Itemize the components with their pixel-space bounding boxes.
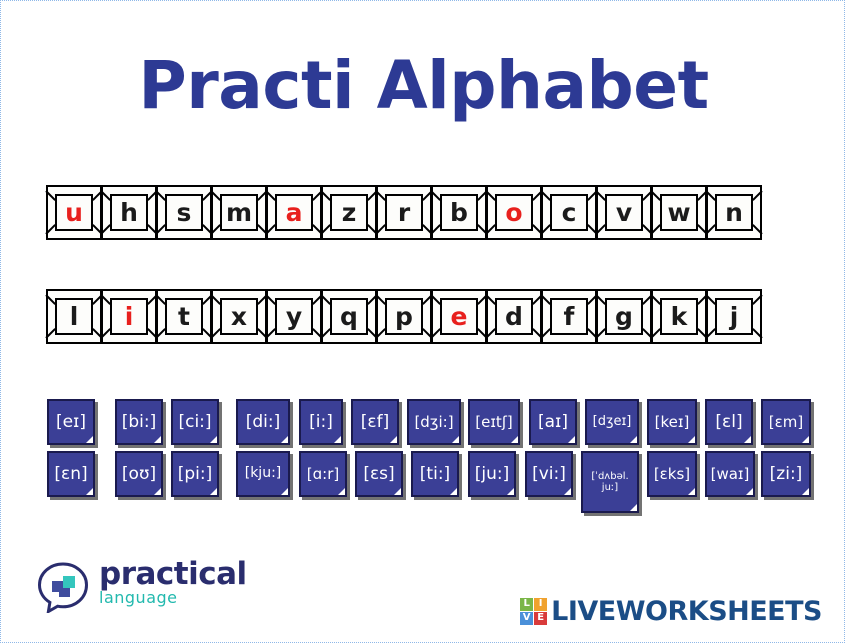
letter-cell[interactable]: r xyxy=(376,185,432,240)
phonetic-tile[interactable]: [aɪ] xyxy=(529,399,577,445)
bevel-corner-icon xyxy=(265,224,276,235)
bevel-corner-icon xyxy=(485,328,496,339)
bevel-corner-icon xyxy=(100,224,111,235)
letter-glyph: i xyxy=(125,304,134,329)
folded-corner-icon xyxy=(566,434,577,445)
bevel-corner-icon xyxy=(705,328,716,339)
bevel-corner-icon xyxy=(650,190,661,201)
phonetic-tile-label: [ɛks] xyxy=(652,466,692,483)
bevel-corner-icon xyxy=(752,224,763,235)
phonetic-tile[interactable]: [dʒeɪ] xyxy=(585,399,639,445)
phonetic-tile-label: [pi:] xyxy=(176,465,215,484)
phonetic-tile-label: [dʒi:] xyxy=(412,414,455,431)
letter-cell[interactable]: i xyxy=(101,289,157,344)
bevel-corner-icon xyxy=(752,190,763,201)
bevel-corner-icon xyxy=(45,294,56,305)
bevel-corner-icon xyxy=(320,294,331,305)
letter-glyph: d xyxy=(505,304,523,329)
letter-cell[interactable]: w xyxy=(651,185,707,240)
bevel-corner-icon xyxy=(155,190,166,201)
bevel-corner-icon xyxy=(595,224,606,235)
bevel-corner-icon xyxy=(100,328,111,339)
phonetic-tile-label: [di:] xyxy=(244,413,283,432)
bevel-corner-icon xyxy=(265,190,276,201)
letter-cell[interactable]: f xyxy=(541,289,597,344)
phonetic-tile-label: [i:] xyxy=(307,413,335,432)
letter-cell[interactable]: u xyxy=(46,185,102,240)
lws-grid-letter: L xyxy=(520,598,533,611)
letter-cell[interactable]: k xyxy=(651,289,707,344)
worksheet-page: Practi Alphabet uhsmazrbocvwn litxyqpedf… xyxy=(0,0,845,643)
bevel-corner-icon xyxy=(595,328,606,339)
phonetic-tile[interactable]: [ci:] xyxy=(171,399,219,445)
phonetic-tile[interactable]: [ɛn] xyxy=(47,451,95,497)
folded-corner-icon xyxy=(336,486,347,497)
bevel-corner-icon xyxy=(100,294,111,305)
bevel-corner-icon xyxy=(375,294,386,305)
bevel-corner-icon xyxy=(430,190,441,201)
letter-glyph: j xyxy=(730,304,739,329)
bevel-corner-icon xyxy=(210,294,221,305)
phonetic-tile[interactable]: [keɪ] xyxy=(647,399,697,445)
folded-corner-icon xyxy=(450,434,461,445)
bevel-corner-icon xyxy=(265,328,276,339)
phonetic-tile-label: [eɪ] xyxy=(54,413,88,432)
letter-cell[interactable]: j xyxy=(706,289,762,344)
phonetic-tile[interactable]: [zi:] xyxy=(761,451,811,497)
phonetic-tile-label: [zi:] xyxy=(768,465,805,484)
page-title: Practi Alphabet xyxy=(1,53,845,119)
liveworksheets-wordmark: LIVEWORKSHEETS xyxy=(551,598,822,625)
phonetic-tile-label: [ɑ:r] xyxy=(305,466,341,483)
bevel-corner-icon xyxy=(155,328,166,339)
phonetic-tile[interactable]: [pi:] xyxy=(171,451,219,497)
phonetic-tile[interactable]: [kju:] xyxy=(236,451,290,497)
phonetic-tile[interactable]: [ti:] xyxy=(411,451,459,497)
phonetic-tile[interactable]: [dʒi:] xyxy=(407,399,461,445)
phonetic-tile[interactable]: [eɪtʃ] xyxy=(468,399,520,445)
letter-glyph: a xyxy=(286,200,303,225)
letter-glyph: p xyxy=(395,304,413,329)
phonetic-tile-label: [vi:] xyxy=(530,465,568,484)
letter-cell[interactable]: o xyxy=(486,185,542,240)
bevel-corner-icon xyxy=(705,224,716,235)
letter-glyph: w xyxy=(667,200,690,225)
phonetic-tile-label: [ti:] xyxy=(418,465,452,484)
phonetic-tile-label: [aɪ] xyxy=(536,413,570,432)
phonetic-tile-row-2: [ɛn][oʊ][pi:][kju:][ɑ:r][ɛs][ti:][ju:][v… xyxy=(47,451,827,503)
bevel-corner-icon xyxy=(320,328,331,339)
letter-row-1: uhsmazrbocvwn xyxy=(46,185,761,240)
letter-cell[interactable]: v xyxy=(596,185,652,240)
phonetic-tile[interactable]: [ˈdʌbəl. juː] xyxy=(581,451,639,513)
logo-word-language: language xyxy=(99,588,178,607)
speech-bubble-icon xyxy=(37,561,89,613)
folded-corner-icon xyxy=(562,486,573,497)
bevel-corner-icon xyxy=(752,328,763,339)
phonetic-tile-label: [kju:] xyxy=(243,466,284,481)
phonetic-tile-label: [ˈdʌbəl. juː] xyxy=(583,471,637,493)
phonetic-tile[interactable]: [ɛs] xyxy=(355,451,403,497)
phonetic-tile[interactable]: [di:] xyxy=(236,399,290,445)
phonetic-tile[interactable]: [vi:] xyxy=(525,451,573,497)
letter-cell[interactable]: a xyxy=(266,185,322,240)
letter-cell[interactable]: e xyxy=(431,289,487,344)
letter-cell[interactable]: s xyxy=(156,185,212,240)
phonetic-tiles: [eɪ][bi:][ci:][di:][i:][ɛf][dʒi:][eɪtʃ][… xyxy=(47,399,827,503)
bevel-corner-icon xyxy=(45,190,56,201)
bevel-corner-icon xyxy=(705,190,716,201)
bevel-corner-icon xyxy=(45,328,56,339)
bevel-corner-icon xyxy=(375,190,386,201)
bevel-corner-icon xyxy=(320,224,331,235)
folded-corner-icon xyxy=(388,434,399,445)
bevel-corner-icon xyxy=(375,224,386,235)
folded-corner-icon xyxy=(686,434,697,445)
folded-corner-icon xyxy=(448,486,459,497)
folded-corner-icon xyxy=(392,486,403,497)
phonetic-tile[interactable]: [ɛf] xyxy=(351,399,399,445)
bevel-corner-icon xyxy=(540,294,551,305)
letter-cell[interactable]: c xyxy=(541,185,597,240)
folded-corner-icon xyxy=(84,486,95,497)
phonetic-tile-label: [ɛm] xyxy=(767,414,805,431)
bevel-corner-icon xyxy=(210,224,221,235)
letter-glyph: t xyxy=(178,304,190,329)
phonetic-tile-label: [ci:] xyxy=(176,413,213,432)
folded-corner-icon xyxy=(279,434,290,445)
phonetic-tile[interactable]: [waɪ] xyxy=(705,451,755,497)
folded-corner-icon xyxy=(208,434,219,445)
bevel-corner-icon xyxy=(650,224,661,235)
letter-cell[interactable]: h xyxy=(101,185,157,240)
phonetic-tile[interactable]: [bi:] xyxy=(115,399,163,445)
bevel-corner-icon xyxy=(320,190,331,201)
phonetic-tile-label: [ɛn] xyxy=(52,465,89,484)
bevel-corner-icon xyxy=(430,294,441,305)
folded-corner-icon xyxy=(332,434,343,445)
letter-glyph: q xyxy=(340,304,358,329)
bevel-corner-icon xyxy=(540,190,551,201)
bevel-corner-icon xyxy=(430,328,441,339)
letter-glyph: o xyxy=(505,200,522,225)
liveworksheets-grid-icon: LIVE xyxy=(520,598,547,625)
bevel-corner-icon xyxy=(595,294,606,305)
phonetic-tile-label: [ɛs] xyxy=(361,465,396,484)
bevel-corner-icon xyxy=(540,224,551,235)
bevel-corner-icon xyxy=(210,190,221,201)
phonetic-tile[interactable]: [ɛks] xyxy=(647,451,697,497)
phonetic-tile-label: [ju:] xyxy=(473,465,512,484)
letter-cell[interactable]: b xyxy=(431,185,487,240)
bevel-corner-icon xyxy=(155,294,166,305)
letter-cell[interactable]: z xyxy=(321,185,377,240)
letter-row-2: litxyqpedfgkj xyxy=(46,289,761,344)
letter-cell[interactable]: x xyxy=(211,289,267,344)
lws-grid-letter: V xyxy=(520,612,533,625)
letter-glyph: s xyxy=(177,200,192,225)
phonetic-tile[interactable]: [ju:] xyxy=(468,451,516,497)
phonetic-tile-label: [oʊ] xyxy=(120,465,158,484)
logo-word-practical: practical xyxy=(99,556,247,592)
phonetic-tile[interactable]: [ɛl] xyxy=(705,399,753,445)
phonetic-tile-label: [bi:] xyxy=(120,413,159,432)
folded-corner-icon xyxy=(800,434,811,445)
folded-corner-icon xyxy=(152,486,163,497)
letter-cell[interactable]: m xyxy=(211,185,267,240)
bevel-corner-icon xyxy=(595,190,606,201)
letter-glyph: z xyxy=(342,200,357,225)
letter-cell[interactable]: g xyxy=(596,289,652,344)
folded-corner-icon xyxy=(279,486,290,497)
bevel-corner-icon xyxy=(485,190,496,201)
phonetic-tile-label: [keɪ] xyxy=(653,414,692,431)
letter-cell[interactable]: t xyxy=(156,289,212,344)
phonetic-tile-label: [dʒeɪ] xyxy=(591,415,634,429)
bevel-corner-icon xyxy=(155,224,166,235)
letter-glyph: b xyxy=(450,200,468,225)
letter-glyph: l xyxy=(70,304,79,329)
bevel-corner-icon xyxy=(100,190,111,201)
lws-grid-letter: E xyxy=(534,612,547,625)
bevel-corner-icon xyxy=(540,328,551,339)
practical-language-wordmark: practical language xyxy=(99,559,247,608)
letter-glyph: n xyxy=(725,200,743,225)
phonetic-tile-label: [eɪtʃ] xyxy=(473,414,514,431)
folded-corner-icon xyxy=(509,434,520,445)
letter-cell[interactable]: p xyxy=(376,289,432,344)
bevel-corner-icon xyxy=(752,294,763,305)
practical-language-logo: practical language xyxy=(37,557,237,619)
folded-corner-icon xyxy=(686,486,697,497)
phonetic-tile[interactable]: [ɑ:r] xyxy=(299,451,347,497)
folded-corner-icon xyxy=(800,486,811,497)
letter-glyph: v xyxy=(616,200,632,225)
letter-cell[interactable]: q xyxy=(321,289,377,344)
bevel-corner-icon xyxy=(705,294,716,305)
letter-glyph: x xyxy=(231,304,247,329)
letter-glyph: h xyxy=(120,200,138,225)
folded-corner-icon xyxy=(744,486,755,497)
letter-glyph: y xyxy=(286,304,302,329)
phonetic-tile-label: [waɪ] xyxy=(709,466,752,483)
letter-glyph: u xyxy=(65,200,83,225)
bevel-corner-icon xyxy=(375,328,386,339)
bevel-corner-icon xyxy=(210,328,221,339)
bevel-corner-icon xyxy=(45,224,56,235)
phonetic-tile-row-1: [eɪ][bi:][ci:][di:][i:][ɛf][dʒi:][eɪtʃ][… xyxy=(47,399,827,451)
phonetic-tile[interactable]: [eɪ] xyxy=(47,399,95,445)
letter-glyph: c xyxy=(562,200,577,225)
letter-cell[interactable]: n xyxy=(706,185,762,240)
phonetic-tile[interactable]: [ɛm] xyxy=(761,399,811,445)
folded-corner-icon xyxy=(208,486,219,497)
letter-glyph: m xyxy=(226,200,252,225)
letter-glyph: r xyxy=(398,200,410,225)
bevel-corner-icon xyxy=(430,224,441,235)
letter-glyph: k xyxy=(671,304,688,329)
bevel-corner-icon xyxy=(650,294,661,305)
bevel-corner-icon xyxy=(485,224,496,235)
bevel-corner-icon xyxy=(485,294,496,305)
letter-cell[interactable]: l xyxy=(46,289,102,344)
letter-glyph: g xyxy=(615,304,633,329)
lws-grid-letter: I xyxy=(534,598,547,611)
phonetic-tile-label: [ɛl] xyxy=(713,413,744,432)
bevel-corner-icon xyxy=(265,294,276,305)
phonetic-tile[interactable]: [i:] xyxy=(299,399,343,445)
phonetic-tile[interactable]: [oʊ] xyxy=(115,451,163,497)
folded-corner-icon xyxy=(152,434,163,445)
letter-glyph: e xyxy=(451,304,468,329)
letter-cell[interactable]: y xyxy=(266,289,322,344)
folded-corner-icon xyxy=(84,434,95,445)
folded-corner-icon xyxy=(742,434,753,445)
folded-corner-icon xyxy=(505,486,516,497)
bevel-corner-icon xyxy=(650,328,661,339)
phonetic-tile-label: [ɛf] xyxy=(359,413,391,432)
liveworksheets-logo: LIVE LIVEWORKSHEETS xyxy=(520,595,822,627)
letter-cell[interactable]: d xyxy=(486,289,542,344)
folded-corner-icon xyxy=(628,502,639,513)
letter-glyph: f xyxy=(564,304,575,329)
folded-corner-icon xyxy=(628,434,639,445)
